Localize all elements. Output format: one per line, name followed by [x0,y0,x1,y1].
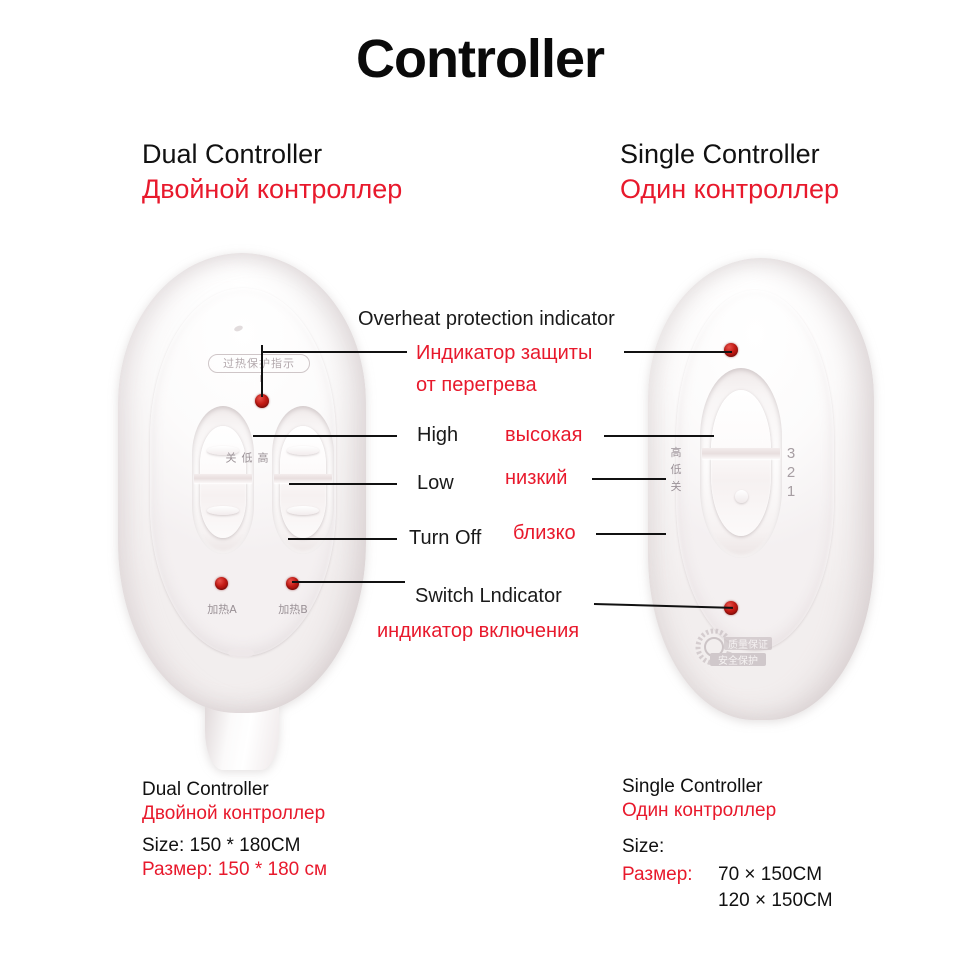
leader-high-left [253,435,397,437]
heat-b-led [286,577,299,590]
left-caption-en: Dual Controller [142,779,269,801]
leader-overheat-left [261,351,407,353]
heat-a-led [215,577,228,590]
callout-high-en: High [417,424,458,447]
leader-low-left [289,483,397,485]
leader-off-left [288,538,397,540]
scale-cn-off: 关 [666,478,686,495]
dual-slider-slot-b[interactable] [272,406,334,554]
leader-high-right [604,435,714,437]
page-title: Controller [0,28,960,90]
dual-overheat-pill-label: 过热保护指示 [208,354,310,373]
single-scale-num-column: 3 2 1 [782,444,800,501]
right-size-value-1: 70 × 150CM [718,864,822,886]
left-caption-ru: Двойной контроллер [142,803,325,825]
leader-overheat-vertical [261,345,263,397]
knob-seam [194,474,252,483]
right-heading-ru: Один контроллер [620,174,839,205]
dual-slider-knob-a[interactable] [200,426,246,538]
dual-slider-scale: 高低关 [256,452,270,466]
callout-overheat-en: Overheat protection indicator [358,308,615,331]
right-size-en: Size: [622,836,664,858]
scale-num-1: 1 [782,482,800,501]
leader-off-right [596,533,666,535]
scale-num-2: 2 [782,463,800,482]
leader-overheat-right [624,351,732,353]
knob-nub [735,490,748,503]
right-heading-en: Single Controller [620,139,820,170]
single-scale-cn-column: 高 低 关 [666,444,686,495]
left-heading-ru: Двойной контроллер [142,174,402,205]
knob-ridge-bottom [207,506,239,515]
callout-high-ru: высокая [505,424,583,447]
heat-b-label: 加热B [267,601,319,617]
scale-cn-high: 高 [666,444,686,461]
leader-low-right [592,478,666,480]
callout-switch-ru: индикатор включения [377,620,579,643]
callout-switch-en: Switch Lndicator [415,585,562,608]
knob-ridge-bottom [287,506,319,515]
left-size-en: Size: 150 * 180CM [142,835,300,857]
knob-seam [274,474,332,483]
callout-off-ru: близко [513,522,576,545]
dual-bottom-emboss [228,648,254,658]
svg-text:安全保护: 安全保护 [718,654,758,667]
left-size-ru: Размер: 150 * 180 см [142,859,327,881]
single-overheat-led [724,343,738,357]
knob-seam [702,448,780,459]
callout-low-en: Low [417,472,454,495]
certification-logo-icon: 质量保证 安全保护 [690,627,782,671]
right-caption-en: Single Controller [622,776,762,798]
right-size-ru: Размер: [622,864,693,886]
scale-cn-low: 低 [666,461,686,478]
knob-ridge-top [287,446,319,455]
callout-low-ru: низкий [505,467,567,490]
dual-slider-knob-b[interactable] [280,426,326,538]
single-slider-slot[interactable] [700,368,782,558]
callout-overheat-ru-line1: Индикатор защиты [416,342,592,365]
dual-slider-slot-a[interactable] [192,406,254,554]
infographic-canvas: Controller Dual Controller Двойной контр… [0,0,960,960]
svg-text:质量保证: 质量保证 [728,638,768,651]
single-slider-knob[interactable] [711,390,771,536]
heat-a-label: 加热A [196,601,248,617]
callout-off-en: Turn Off [409,527,481,550]
right-caption-ru: Один контроллер [622,800,776,822]
callout-overheat-ru-line2: от перегрева [416,374,537,397]
scale-num-3: 3 [782,444,800,463]
left-heading-en: Dual Controller [142,139,322,170]
leader-switch-left [292,581,405,583]
right-size-value-2: 120 × 150CM [718,890,833,912]
